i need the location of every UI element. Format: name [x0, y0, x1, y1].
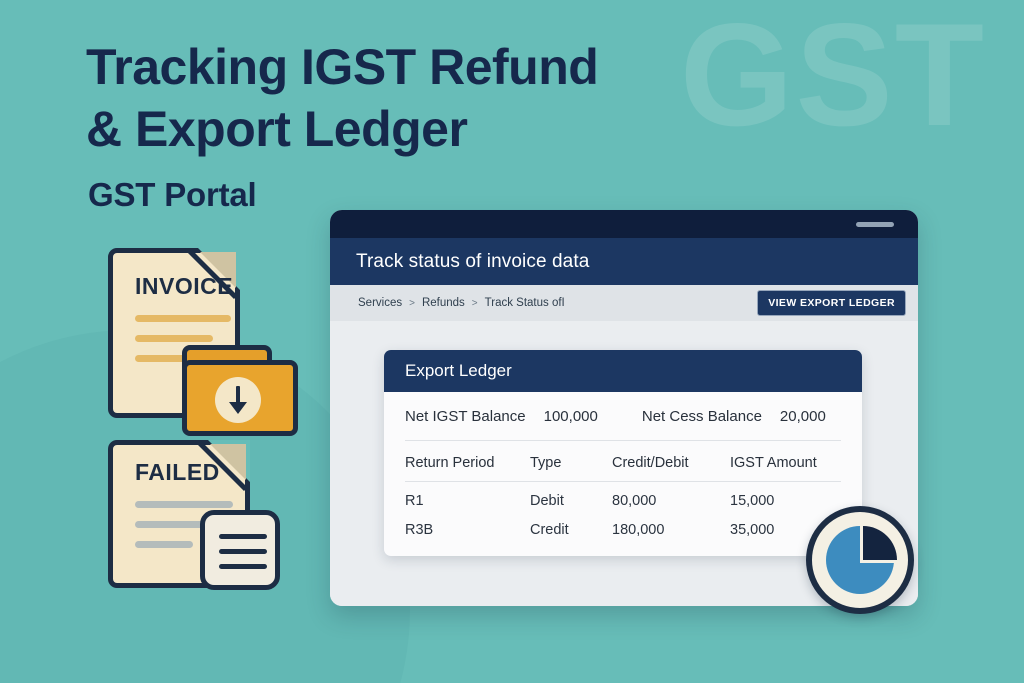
download-folder-icon: [182, 360, 298, 436]
pie-chart-quarter-slice: [860, 526, 897, 563]
minimize-icon[interactable]: [856, 222, 894, 227]
chevron-right-icon: >: [472, 298, 478, 309]
table-row[interactable]: R1 Debit 80,000 15,000: [405, 482, 841, 512]
doc-text-line: [135, 501, 233, 508]
cell-type: Credit: [530, 511, 612, 540]
failed-document-label: FAILED: [135, 459, 220, 486]
pie-chart-icon: [806, 506, 914, 614]
export-ledger-card: Export Ledger Net IGST Balance 100,000 N…: [384, 350, 862, 556]
page-title-line2: & Export Ledger: [86, 98, 726, 160]
column-header-type: Type: [530, 441, 612, 482]
cell-igst-amount: 15,000: [730, 482, 841, 512]
download-arrow-icon: [236, 386, 240, 406]
ledger-table: Return Period Type Credit/Debit IGST Amo…: [405, 441, 841, 540]
page-title: Tracking IGST Refund & Export Ledger: [86, 36, 726, 160]
list-bar: [219, 549, 267, 554]
export-ledger-body: Net IGST Balance 100,000 Net Cess Balanc…: [384, 392, 862, 556]
balances-row: Net IGST Balance 100,000 Net Cess Balanc…: [405, 392, 841, 441]
net-cess-balance-label: Net Cess Balance: [642, 408, 762, 425]
page-subtitle: GST Portal: [88, 176, 257, 214]
cell-return-period: R1: [405, 482, 530, 512]
list-bar: [219, 534, 267, 539]
net-cess-balance-value: 20,000: [780, 408, 826, 425]
poster-canvas: GST Tracking IGST Refund & Export Ledger…: [0, 0, 1024, 683]
cell-type: Debit: [530, 482, 612, 512]
cell-credit-debit: 180,000: [612, 511, 730, 540]
cell-return-period: R3B: [405, 511, 530, 540]
column-header-return-period: Return Period: [405, 441, 530, 482]
invoice-document-label: INVOICE: [135, 273, 233, 300]
column-header-credit-debit: Credit/Debit: [612, 441, 730, 482]
table-row[interactable]: R3B Credit 180,000 35,000: [405, 511, 841, 540]
download-circle: [215, 377, 261, 423]
page-title-line1: Tracking IGST Refund: [86, 39, 598, 95]
breadcrumb-bar: Services > Refunds > Track Status ofI VI…: [330, 285, 918, 321]
doc-text-line: [135, 315, 231, 322]
net-igst-balance-value: 100,000: [544, 408, 598, 425]
chevron-right-icon: >: [409, 298, 415, 309]
doc-text-line: [135, 541, 193, 548]
app-header: Track status of invoice data: [330, 238, 918, 285]
app-title: Track status of invoice data: [356, 251, 589, 273]
cell-credit-debit: 80,000: [612, 482, 730, 512]
column-header-igst-amount: IGST Amount: [730, 441, 841, 482]
pie-chart-full-slice: [826, 526, 894, 594]
doc-text-line: [135, 335, 213, 342]
breadcrumb: Services > Refunds > Track Status ofI: [358, 297, 565, 309]
table-header-row: Return Period Type Credit/Debit IGST Amo…: [405, 441, 841, 482]
breadcrumb-item-services[interactable]: Services: [358, 297, 402, 309]
list-bar: [219, 564, 267, 569]
breadcrumb-item-refunds[interactable]: Refunds: [422, 297, 465, 309]
breadcrumb-item-track-status: Track Status ofI: [485, 297, 565, 309]
window-titlebar: [330, 210, 918, 238]
view-export-ledger-button[interactable]: VIEW EXPORT LEDGER: [757, 290, 906, 316]
net-igst-balance-label: Net IGST Balance: [405, 408, 526, 425]
export-ledger-title: Export Ledger: [384, 350, 862, 392]
list-lines-icon: [200, 510, 280, 590]
